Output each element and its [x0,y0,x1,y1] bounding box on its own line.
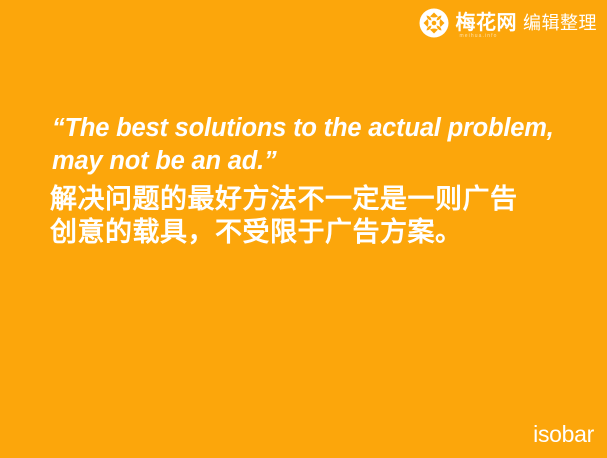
quote-english: “The best solutions to the actual proble… [52,112,582,178]
publisher-credit: 梅花网 编辑整理 meihua.info [419,6,598,40]
meihua-plum-blossom-logo-icon [419,8,449,38]
quote-block: “The best solutions to the actual proble… [52,112,582,249]
credit-action-label: 编辑整理 [523,14,597,32]
slide-canvas: 梅花网 编辑整理 meihua.info “The best solutions… [0,0,607,458]
agency-logo-isobar: isobar [533,423,594,446]
credit-wordmark: 梅花网 编辑整理 meihua.info [456,13,598,33]
brand-name: 梅花网 [456,13,518,33]
brand-url: meihua.info [460,34,498,39]
quote-chinese: 解决问题的最好方法不一定是一则广告 创意的载具，不受限于广告方案。 [50,183,582,249]
